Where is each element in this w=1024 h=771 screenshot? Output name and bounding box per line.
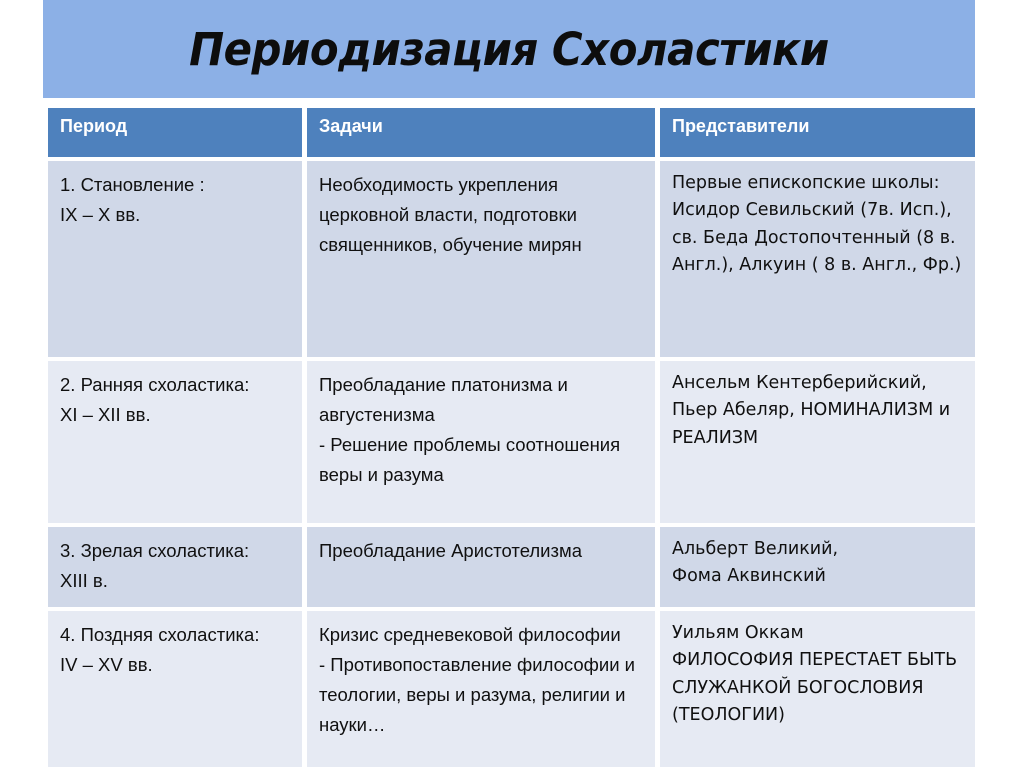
cell-period: 4. Поздняя схоластика: IV – XV вв. [48, 611, 307, 771]
table-row: 3. Зрелая схоластика: XIII в. Преобладан… [48, 527, 975, 611]
slide-title-banner: Периодизация Схоластики [43, 0, 975, 98]
column-header-period: Период [48, 108, 307, 161]
cell-period: 2. Ранняя схоластика: XI – XII вв. [48, 361, 307, 527]
cell-representatives: Уильям Оккам ФИЛОСОФИЯ ПЕРЕСТАЕТ БЫТЬ СЛ… [660, 611, 975, 771]
table-row: 4. Поздняя схоластика: IV – XV вв. Кризи… [48, 611, 975, 771]
cell-tasks: Кризис средневековой философии - Противо… [307, 611, 660, 771]
cell-period: 3. Зрелая схоластика: XIII в. [48, 527, 307, 611]
cell-tasks: Необходимость укрепления церковной власт… [307, 161, 660, 361]
cell-representatives: Альберт Великий, Фома Аквинский [660, 527, 975, 611]
table-header: Период Задачи Представители [48, 108, 975, 161]
column-header-tasks: Задачи [307, 108, 660, 161]
page-title: Периодизация Схоластики [189, 27, 829, 72]
column-header-representatives: Представители [660, 108, 975, 161]
table-row: 1. Становление : IX – X вв. Необходимост… [48, 161, 975, 361]
cell-representatives: Ансельм Кентерберийский, Пьер Абеляр, НО… [660, 361, 975, 527]
cell-representatives: Первые епископские школы: Исидор Севильс… [660, 161, 975, 361]
cell-tasks: Преобладание Аристотелизма [307, 527, 660, 611]
periodization-table: Период Задачи Представители 1. Становлен… [48, 108, 975, 771]
table-row: 2. Ранняя схоластика: XI – XII вв. Преоб… [48, 361, 975, 527]
table-body: 1. Становление : IX – X вв. Необходимост… [48, 161, 975, 771]
cell-period: 1. Становление : IX – X вв. [48, 161, 307, 361]
table-header-row: Период Задачи Представители [48, 108, 975, 161]
cell-tasks: Преобладание платонизма и августенизма -… [307, 361, 660, 527]
